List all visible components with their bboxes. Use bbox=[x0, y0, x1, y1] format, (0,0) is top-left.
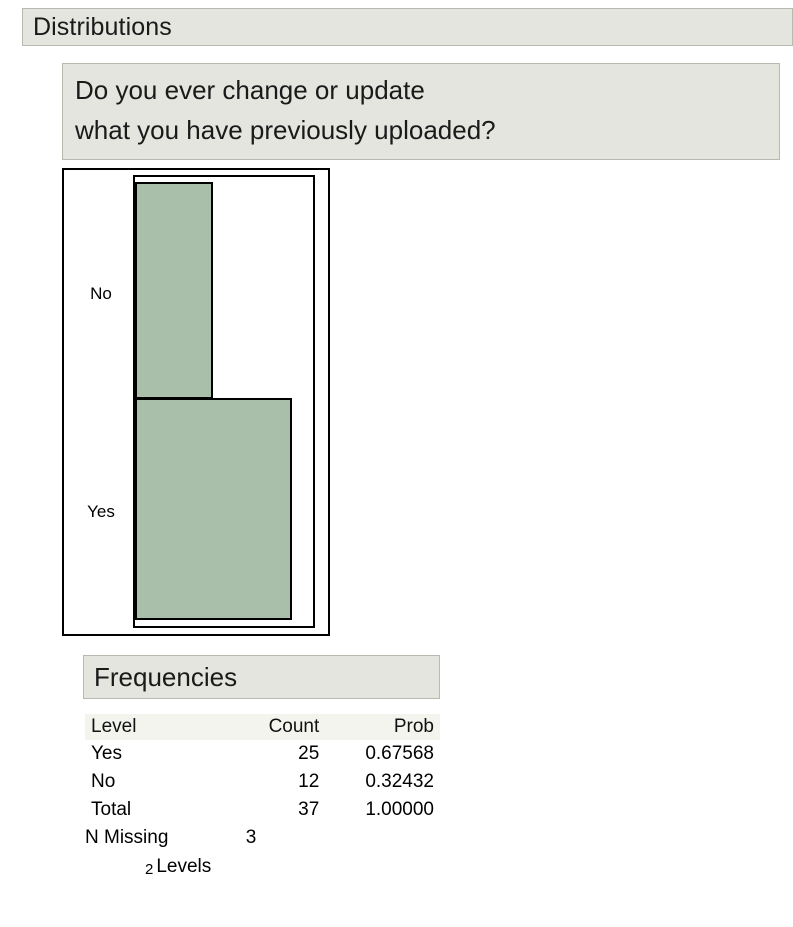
bar-no[interactable] bbox=[135, 182, 213, 399]
n-missing-label: N Missing bbox=[85, 824, 201, 852]
table-row: Yes 25 0.67568 bbox=[85, 740, 440, 768]
column-header-count[interactable]: Count bbox=[201, 714, 326, 740]
n-missing-row: N Missing 3 bbox=[85, 824, 440, 852]
levels-row: 2Levels bbox=[85, 852, 440, 882]
report-header-title: Distributions bbox=[23, 15, 172, 40]
frequencies-table: Level Count Prob Yes 25 0.67568 No 12 0.… bbox=[85, 714, 440, 882]
cell-count: 37 bbox=[201, 796, 326, 824]
column-header-prob[interactable]: Prob bbox=[325, 714, 440, 740]
table-header-row: Level Count Prob bbox=[85, 714, 440, 740]
levels-cell: 2Levels bbox=[85, 852, 440, 882]
distributions-report-header[interactable]: Distributions bbox=[22, 8, 793, 46]
cell-prob: 1.00000 bbox=[325, 796, 440, 824]
variable-title-line-2: what you have previously uploaded? bbox=[75, 110, 779, 150]
cell-count: 12 bbox=[201, 768, 326, 796]
table-row: Total 37 1.00000 bbox=[85, 796, 440, 824]
frequencies-header[interactable]: Frequencies bbox=[83, 655, 440, 699]
cell-level: No bbox=[85, 768, 201, 796]
levels-count: 2 bbox=[145, 861, 156, 878]
axis-label-no: No bbox=[73, 285, 129, 302]
cell-count: 25 bbox=[201, 740, 326, 768]
axis-label-yes: Yes bbox=[73, 503, 129, 520]
variable-title-line-1: Do you ever change or update bbox=[75, 70, 779, 110]
cell-prob: 0.32432 bbox=[325, 768, 440, 796]
table-row: No 12 0.32432 bbox=[85, 768, 440, 796]
n-missing-value: 3 bbox=[201, 824, 326, 852]
frequencies-header-title: Frequencies bbox=[84, 664, 237, 690]
cell-level: Total bbox=[85, 796, 201, 824]
bar-yes[interactable] bbox=[135, 398, 292, 620]
column-header-level[interactable]: Level bbox=[85, 714, 201, 740]
cell-level: Yes bbox=[85, 740, 201, 768]
levels-word: Levels bbox=[156, 856, 211, 877]
cell-prob: 0.67568 bbox=[325, 740, 440, 768]
n-missing-prob-empty bbox=[325, 824, 440, 852]
variable-title-panel[interactable]: Do you ever change or update what you ha… bbox=[62, 63, 780, 160]
